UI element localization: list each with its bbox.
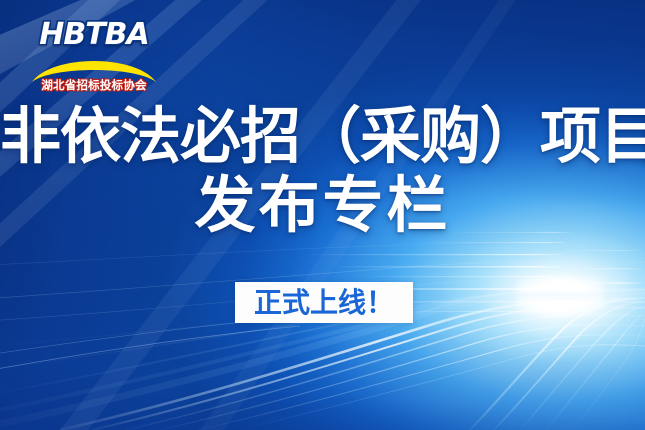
light-glow-center <box>516 276 604 316</box>
association-logo: HBTBA 湖北省招标投标协会 <box>28 18 160 90</box>
title-line-1: 非依法必招（采购）项目 <box>0 104 645 169</box>
promo-banner: HBTBA 湖北省招标投标协会 非依法必招（采购）项目 发布专栏 正式上线！ <box>0 0 645 430</box>
banner-title: 非依法必招（采购）项目 发布专栏 <box>0 104 645 239</box>
status-badge: 正式上线！ <box>235 282 413 323</box>
status-badge-label: 正式上线！ <box>254 289 394 317</box>
logo-wordmark: HBTBA <box>28 20 160 50</box>
title-line-2: 发布专栏 <box>0 173 645 238</box>
logo-org-name: 湖北省招标投标协会 <box>28 80 160 92</box>
